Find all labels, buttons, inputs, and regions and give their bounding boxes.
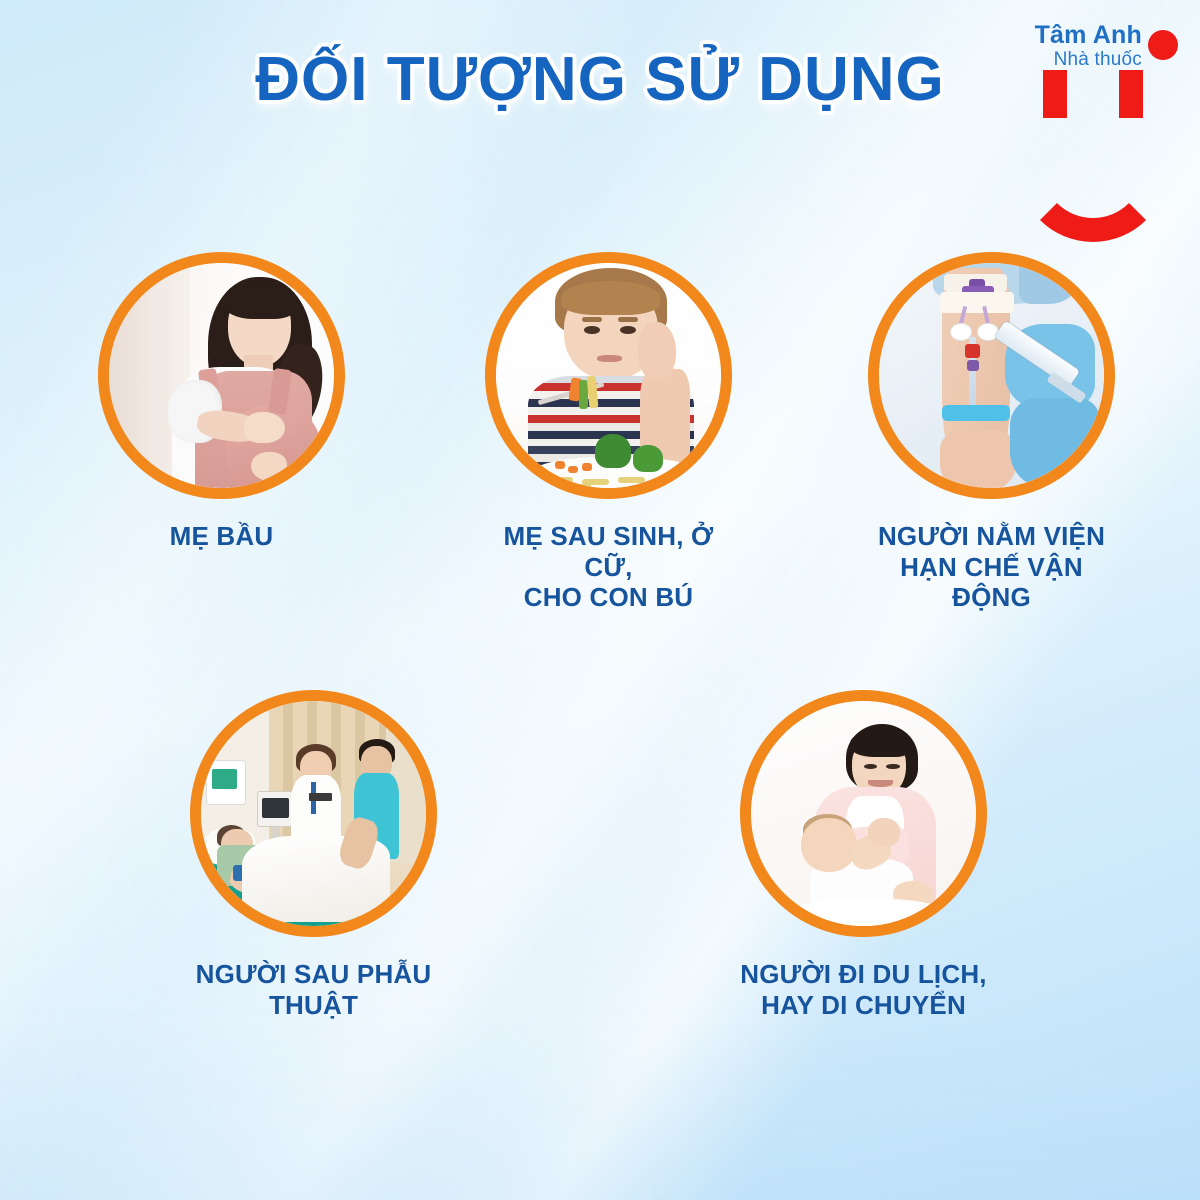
photo-mother-breastfeeding [751, 701, 976, 926]
photo-ring [740, 690, 987, 937]
logo-subtitle: Nhà thuốc [1002, 48, 1142, 72]
item-caption: NGƯỜI NẰM VIỆN HẠN CHẾ VẬN ĐỘNG [868, 521, 1115, 613]
photo-ring [190, 690, 437, 937]
photo-pregnant-woman [109, 263, 334, 488]
photo-ring [485, 252, 732, 499]
item-caption: MẸ BẦU [98, 521, 345, 552]
photo-hospital-bed-nurse [201, 701, 426, 926]
photo-iv-catheter-arm [879, 263, 1104, 488]
logo-smile-arc-icon [1018, 92, 1168, 242]
item-caption: MẸ SAU SINH, Ở CỮ, CHO CON BÚ [485, 521, 732, 613]
logo: Tâm Anh Nhà thuốc [1002, 22, 1182, 162]
logo-dot-icon [1148, 30, 1178, 60]
item-caption: NGƯỜI ĐI DU LỊCH, HAY DI CHUYỂN [740, 959, 987, 1020]
logo-text: Tâm Anh Nhà thuốc [1002, 22, 1142, 72]
item-me-bau[interactable]: MẸ BẦU [98, 252, 345, 552]
item-nguoi-di-du-lich[interactable]: NGƯỜI ĐI DU LỊCH, HAY DI CHUYỂN [740, 690, 987, 1020]
item-nguoi-nam-vien[interactable]: NGƯỜI NẰM VIỆN HẠN CHẾ VẬN ĐỘNG [868, 252, 1115, 613]
photo-ring [98, 252, 345, 499]
logo-brand-name: Tâm Anh [1002, 22, 1142, 48]
background-glow-bottom [0, 1040, 1200, 1200]
photo-child-refusing-vegetables [496, 263, 721, 488]
item-caption: NGƯỜI SAU PHẪU THUẬT [190, 959, 437, 1020]
item-me-sau-sinh[interactable]: MẸ SAU SINH, Ở CỮ, CHO CON BÚ [485, 252, 732, 613]
poster-canvas: ĐỐI TƯỢNG SỬ DỤNG Tâm Anh Nhà thuốc [0, 0, 1200, 1200]
photo-ring [868, 252, 1115, 499]
item-nguoi-sau-phau-thuat[interactable]: NGƯỜI SAU PHẪU THUẬT [190, 690, 437, 1020]
